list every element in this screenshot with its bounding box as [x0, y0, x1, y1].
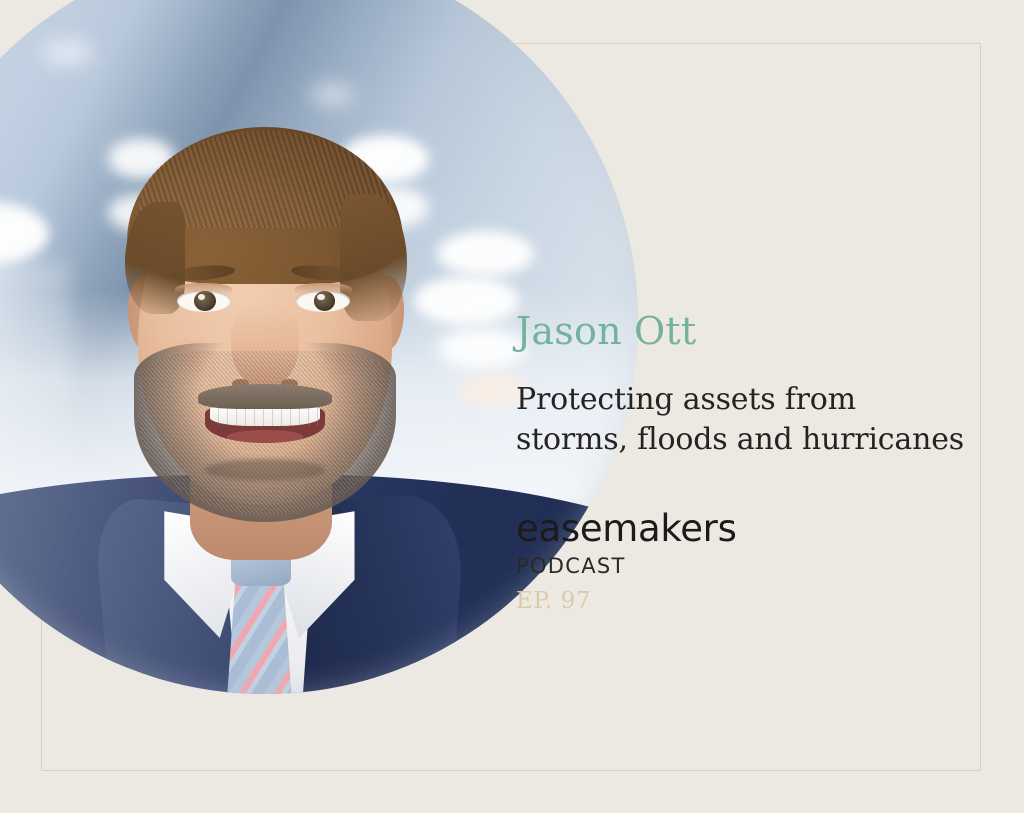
mustache: [198, 384, 332, 409]
tongue: [227, 430, 303, 443]
episode-title: Protecting assets from storms, floods an…: [516, 380, 971, 460]
hair-side-left: [125, 202, 185, 314]
eyelid-right: [295, 283, 352, 294]
eyelid-left: [175, 283, 232, 294]
brand-subtitle: PODCAST: [516, 556, 986, 577]
podcast-episode-card: Jason Ott Protecting assets from storms,…: [0, 0, 1024, 813]
episode-number: EP. 97: [516, 590, 986, 613]
brand-wordmark: easemakers: [516, 510, 986, 547]
mouth: [205, 405, 324, 444]
guest-name: Jason Ott: [516, 312, 986, 350]
episode-text-block: Jason Ott Protecting assets from storms,…: [516, 312, 986, 613]
